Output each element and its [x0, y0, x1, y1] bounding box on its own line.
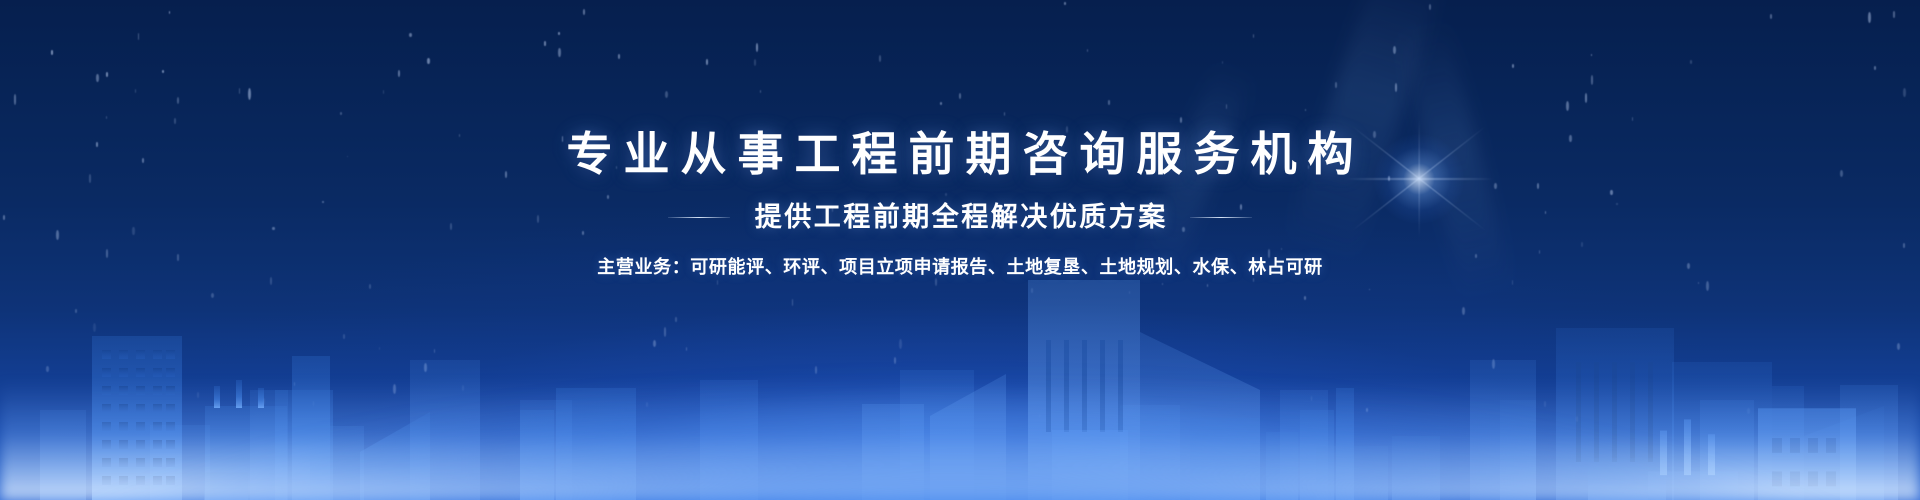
hero-banner: 专业从事工程前期咨询服务机构 提供工程前期全程解决优质方案 主营业务：可研能评、…: [0, 0, 1920, 500]
dash-right-icon: [1190, 217, 1252, 219]
banner-content: 专业从事工程前期咨询服务机构 提供工程前期全程解决优质方案 主营业务：可研能评、…: [0, 0, 1920, 500]
banner-subtitle-row: 提供工程前期全程解决优质方案: [668, 204, 1252, 231]
banner-business-scope: 主营业务：可研能评、环评、项目立项申请报告、土地复垦、土地规划、水保、林占可研: [597, 258, 1322, 276]
banner-subtitle: 提供工程前期全程解决优质方案: [752, 204, 1168, 231]
banner-headline: 专业从事工程前期咨询服务机构: [556, 131, 1365, 177]
dash-left-icon: [668, 217, 730, 219]
